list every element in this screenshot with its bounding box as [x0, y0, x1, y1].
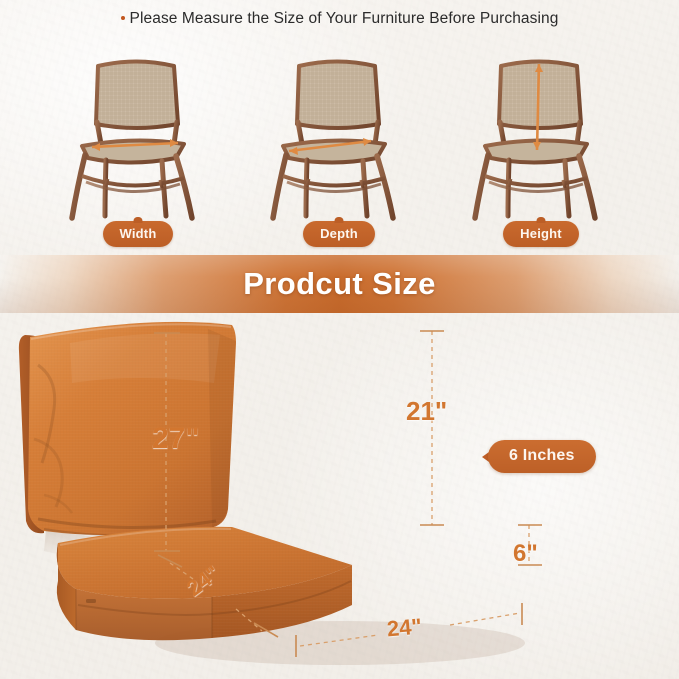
- badge-height: Height: [503, 221, 579, 247]
- dimension-label-seat-thickness: 6": [513, 540, 538, 568]
- cushion-set-image: [0, 313, 679, 679]
- chair-label-width: Width: [58, 221, 218, 247]
- dimension-label-seat-width: 24": [386, 614, 423, 643]
- chair-label-depth: Depth: [259, 221, 419, 247]
- thickness-callout: 6 Inches: [482, 440, 596, 473]
- chair-height-icon: [461, 48, 621, 228]
- bullet-dot-icon: [121, 16, 125, 20]
- chair-label-height: Height: [461, 221, 621, 247]
- banner-title: Prodcut Size: [243, 266, 436, 302]
- chair-illustration-width: [58, 48, 218, 228]
- badge-width: Width: [103, 221, 174, 247]
- chair-depth-icon: [259, 48, 419, 228]
- back-cushion: [19, 322, 236, 536]
- infographic-page: Please Measure the Size of Your Furnitur…: [0, 0, 679, 679]
- chair-illustration-height: [461, 48, 621, 228]
- badge-depth: Depth: [303, 221, 375, 247]
- callout-label: 6 Inches: [488, 440, 596, 473]
- dimension-label-back-panel: 21": [406, 396, 447, 427]
- product-image-area: [0, 313, 679, 679]
- section-banner: Prodcut Size: [0, 255, 679, 313]
- page-notice: Please Measure the Size of Your Furnitur…: [0, 10, 679, 28]
- chair-width-icon: [58, 48, 218, 228]
- dimension-label-back-height: 27": [152, 422, 200, 456]
- chair-illustration-depth: [259, 48, 419, 228]
- notice-text: Please Measure the Size of Your Furnitur…: [130, 10, 559, 27]
